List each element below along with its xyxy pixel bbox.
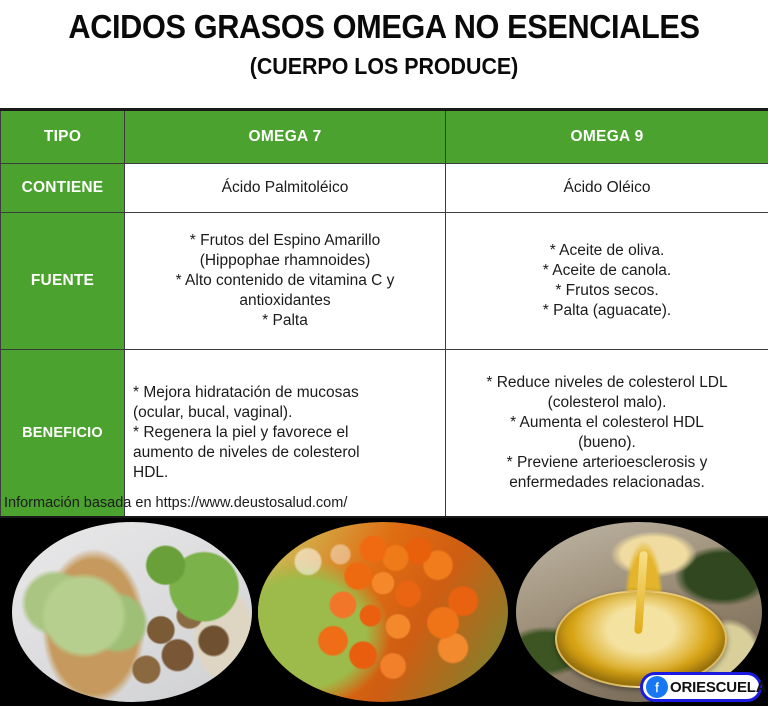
cell-text-line: Ácido Palmitoléico — [130, 178, 440, 198]
row-label-contiene: CONTIENE — [1, 164, 125, 213]
table-row-contiene: CONTIENE Ácido Palmitoléico Ácido Oléico — [1, 164, 768, 213]
row-label-beneficio: BENEFICIO — [1, 350, 125, 518]
photo-content — [258, 522, 508, 702]
omega-comparison-table-wrapper: TIPO OMEGA 7 OMEGA 9 CONTIENE Ácido Palm… — [0, 108, 768, 519]
cell-text-line: antioxidantes — [130, 291, 440, 311]
cell-text-line: * Regenera la piel y favorece el — [133, 423, 440, 443]
cell-text-line: * Palta (aguacate). — [451, 301, 763, 321]
cell-text-line: * Aceite de oliva. — [451, 241, 763, 261]
column-header-omega9: OMEGA 9 — [446, 110, 768, 164]
facebook-badge-label: ORIESCUELA — [670, 679, 766, 696]
cell-text-line: * Alto contenido de vitamina C y — [130, 271, 440, 291]
cell-text-line: Ácido Oléico — [451, 178, 763, 198]
infographic-page: ACIDOS GRASOS OMEGA NO ESENCIALES (CUERP… — [0, 0, 768, 706]
cell-fuente-omega7: * Frutos del Espino Amarillo (Hippophae … — [125, 213, 446, 350]
cell-text-line: * Reduce niveles de colesterol LDL — [451, 373, 763, 393]
table-row-beneficio: BENEFICIO * Mejora hidratación de mucosa… — [1, 350, 768, 518]
column-header-omega7: OMEGA 7 — [125, 110, 446, 164]
facebook-icon — [646, 676, 668, 698]
cell-text-line: (bueno). — [451, 433, 763, 453]
cell-text-line: * Palta — [130, 311, 440, 331]
cell-beneficio-omega7: * Mejora hidratación de mucosas (ocular,… — [125, 350, 446, 518]
source-note: Información basada en https://www.deusto… — [4, 494, 347, 512]
cell-contiene-omega9: Ácido Oléico — [446, 164, 768, 213]
sea-buckthorn-berries-photo — [258, 522, 508, 702]
title-block: ACIDOS GRASOS OMEGA NO ESENCIALES (CUERP… — [0, 0, 768, 104]
column-header-tipo: TIPO — [1, 110, 125, 164]
page-subtitle: (CUERPO LOS PRODUCE) — [27, 48, 741, 80]
cell-text-line: (ocular, bucal, vaginal). — [133, 403, 440, 423]
cell-text-line: * Aumenta el colesterol HDL — [451, 413, 763, 433]
cell-text-line: (Hippophae rhamnoides) — [130, 251, 440, 271]
cell-text-line: * Mejora hidratación de mucosas — [133, 383, 440, 403]
cell-text-line: * Previene arterioesclerosis y — [451, 453, 763, 473]
cell-beneficio-omega9: * Reduce niveles de colesterol LDL (cole… — [446, 350, 768, 518]
table-header-row: TIPO OMEGA 7 OMEGA 9 — [1, 110, 768, 164]
cell-text-line: (colesterol malo). — [451, 393, 763, 413]
omega-comparison-table: TIPO OMEGA 7 OMEGA 9 CONTIENE Ácido Palm… — [0, 108, 768, 519]
cell-contiene-omega7: Ácido Palmitoléico — [125, 164, 446, 213]
cell-fuente-omega9: * Aceite de oliva. * Aceite de canola. *… — [446, 213, 768, 350]
photo-content — [12, 522, 252, 702]
cell-text-line: * Frutos del Espino Amarillo — [130, 231, 440, 251]
cell-text-line: enfermedades relacionadas. — [451, 473, 763, 493]
page-title: ACIDOS GRASOS OMEGA NO ESENCIALES — [27, 0, 741, 48]
avocado-artichokes-walnuts-photo — [12, 522, 252, 702]
row-label-fuente: FUENTE — [1, 213, 125, 350]
cell-text-line: * Frutos secos. — [451, 281, 763, 301]
cell-text-line: * Aceite de canola. — [451, 261, 763, 281]
table-row-fuente: FUENTE * Frutos del Espino Amarillo (Hip… — [1, 213, 768, 350]
facebook-badge[interactable]: ORIESCUELA — [640, 672, 762, 702]
cell-text-line: HDL. — [133, 463, 440, 483]
cell-text-line: aumento de niveles de colesterol — [133, 443, 440, 463]
